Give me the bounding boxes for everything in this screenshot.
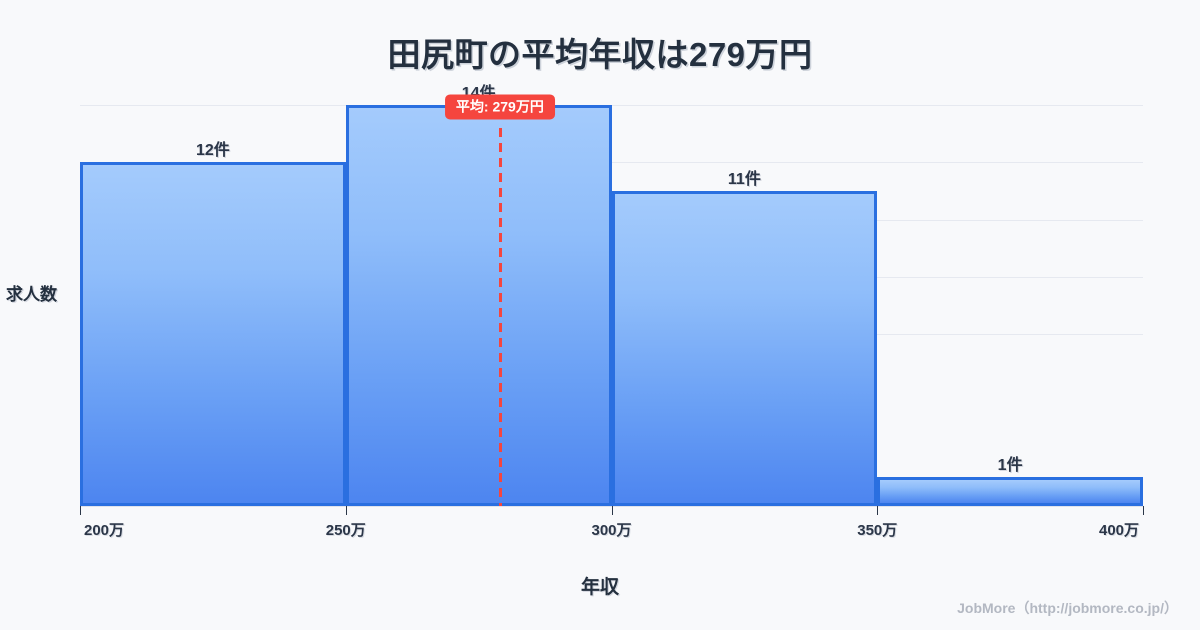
plot-area: 12件14件11件1件 bbox=[80, 100, 1143, 506]
x-axis-tick bbox=[80, 506, 81, 515]
bar-value-label: 12件 bbox=[80, 136, 346, 160]
average-badge: 平均: 279万円 bbox=[445, 94, 555, 119]
average-line bbox=[499, 128, 502, 506]
x-axis-tick bbox=[346, 506, 347, 515]
gridline bbox=[80, 105, 1143, 106]
chart-title: 田尻町の平均年収は279万円 bbox=[0, 28, 1200, 76]
y-axis-title: 求人数 bbox=[6, 280, 57, 305]
x-axis-tick-label: 300万 bbox=[591, 519, 631, 540]
x-axis-tick bbox=[1143, 506, 1144, 515]
x-axis-tick-label: 200万 bbox=[84, 519, 124, 540]
x-axis-title: 年収 bbox=[0, 572, 1200, 599]
bar-value-label: 1件 bbox=[877, 451, 1143, 475]
x-axis-tick-label: 250万 bbox=[326, 519, 366, 540]
bar-value-label: 11件 bbox=[612, 165, 878, 189]
x-axis-tick-label: 350万 bbox=[857, 519, 897, 540]
bar bbox=[346, 105, 612, 506]
x-axis-tick bbox=[612, 506, 613, 515]
chart-container: 田尻町の平均年収は279万円 求人数 12件14件11件1件 200万250万3… bbox=[0, 0, 1200, 630]
bar bbox=[612, 191, 878, 506]
watermark: JobMore（http://jobmore.co.jp/） bbox=[957, 598, 1178, 618]
bar bbox=[80, 162, 346, 506]
x-axis-tick bbox=[877, 506, 878, 515]
bar bbox=[877, 477, 1143, 506]
x-axis-tick-label: 400万 bbox=[1099, 519, 1139, 540]
